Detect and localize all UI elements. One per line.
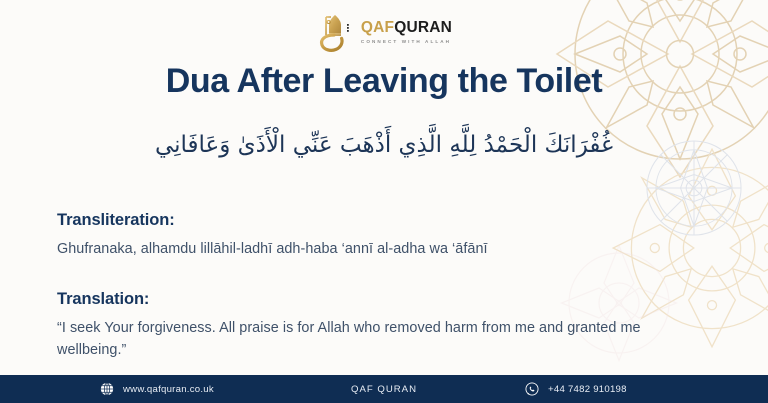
qaf-quran-calligraphy-mark-icon [316, 11, 356, 53]
footer-website-label: www.qafquran.co.uk [123, 384, 214, 395]
logo-tagline: CONNECT WITH ALLAH [361, 39, 452, 44]
footer-phone-label: +44 7482 910198 [548, 384, 627, 395]
translation-label: Translation: [57, 290, 680, 309]
footer-brand-label: QAF QURAN [351, 384, 417, 395]
translation-text: “I seek Your forgiveness. All praise is … [57, 317, 680, 362]
transliteration-text: Ghufranaka, alhamdu lillāhil-ladhī adh-h… [57, 238, 706, 260]
footer-website[interactable]: www.qafquran.co.uk [100, 382, 214, 396]
logo-name-quran: QURAN [394, 19, 452, 36]
globe-icon [100, 382, 114, 396]
logo-wordmark: QAFQURAN CONNECT WITH ALLAH [361, 20, 452, 44]
dua-card: QAFQURAN CONNECT WITH ALLAH Dua After Le… [0, 0, 768, 403]
logo-name-qaf: QAF [361, 19, 394, 36]
footer-phone[interactable]: +44 7482 910198 [525, 382, 627, 396]
transliteration-block: Transliteration: Ghufranaka, alhamdu lil… [57, 211, 706, 260]
arabic-dua-text: غُفْرَانَكَ الْحَمْدُ لِلَّهِ الَّذِي أَ… [0, 126, 768, 165]
translation-block: Translation: “I seek Your forgiveness. A… [57, 290, 680, 362]
transliteration-label: Transliteration: [57, 211, 706, 230]
brand-logo[interactable]: QAFQURAN CONNECT WITH ALLAH [0, 9, 768, 55]
footer-bar: www.qafquran.co.uk QAF QURAN +44 7482 91… [0, 375, 768, 403]
whatsapp-icon [525, 382, 539, 396]
page-title: Dua After Leaving the Toilet [0, 62, 768, 100]
footer-brand: QAF QURAN [351, 384, 417, 395]
